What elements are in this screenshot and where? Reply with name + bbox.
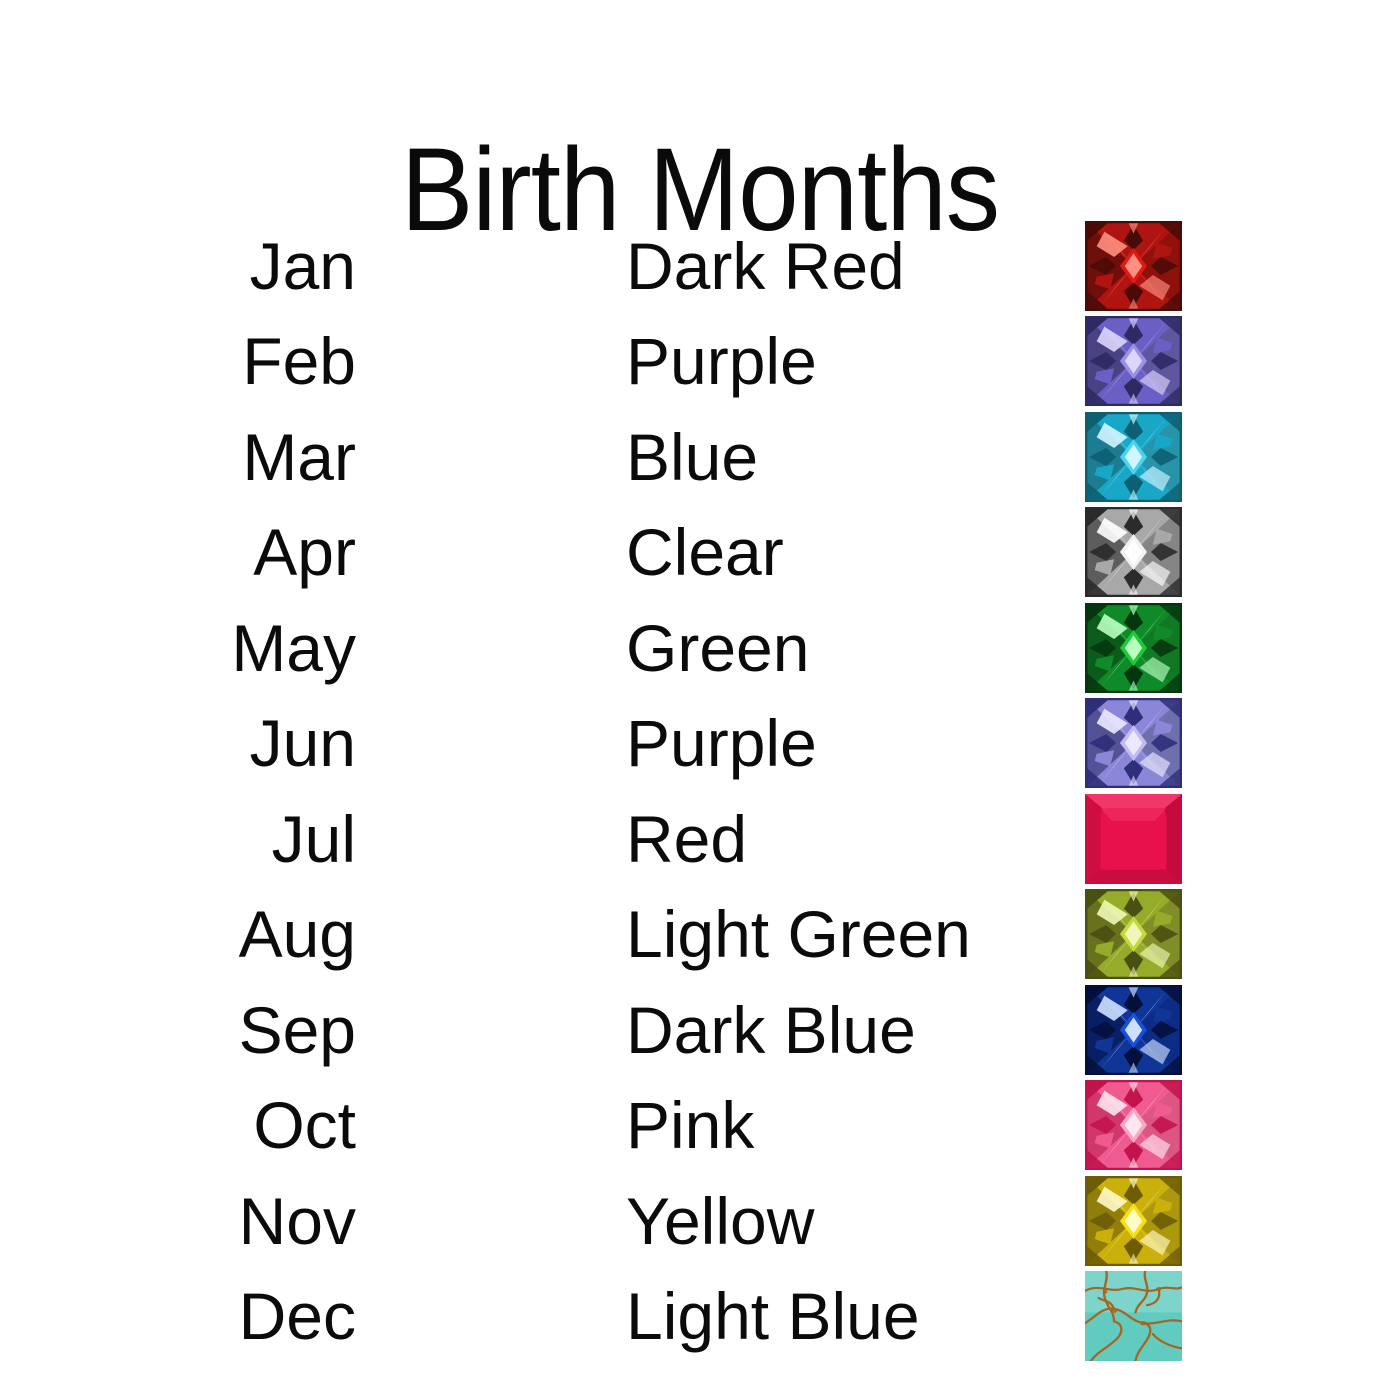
alexandrite-gem xyxy=(1085,698,1182,788)
month-label: Jan xyxy=(120,233,356,299)
alexandrite-gem-facets xyxy=(1085,698,1182,788)
table-row: DecLight Blue xyxy=(0,1269,1400,1365)
color-name-label: Blue xyxy=(626,424,1066,490)
table-row: OctPink xyxy=(0,1078,1400,1174)
month-label: Apr xyxy=(120,519,356,585)
garnet-gem xyxy=(1085,221,1182,311)
birth-months-table: JanDark Red FebPurple xyxy=(0,218,1400,1364)
citrine-gem xyxy=(1085,1176,1182,1266)
month-label: May xyxy=(120,615,356,681)
table-row: NovYellow xyxy=(0,1173,1400,1269)
month-label: Aug xyxy=(120,901,356,967)
amethyst-gem xyxy=(1085,316,1182,406)
diamond-gem-facets xyxy=(1085,507,1182,597)
emerald-gem-facets xyxy=(1085,603,1182,693)
month-label: Feb xyxy=(120,328,356,394)
sapphire-gem xyxy=(1085,985,1182,1075)
emerald-gem xyxy=(1085,603,1182,693)
garnet-gem-facets xyxy=(1085,221,1182,311)
tourmaline-gem-facets xyxy=(1085,1080,1182,1170)
table-row: JulRed xyxy=(0,791,1400,887)
table-row: AprClear xyxy=(0,505,1400,601)
color-name-label: Yellow xyxy=(626,1188,1066,1254)
color-name-label: Purple xyxy=(626,328,1066,394)
month-label: Jul xyxy=(120,806,356,872)
month-label: Jun xyxy=(120,710,356,776)
ruby-gem-facets xyxy=(1085,794,1182,884)
table-row: JanDark Red xyxy=(0,218,1400,314)
month-label: Sep xyxy=(120,997,356,1063)
table-row: MarBlue xyxy=(0,409,1400,505)
aquamarine-gem-facets xyxy=(1085,412,1182,502)
table-row: AugLight Green xyxy=(0,887,1400,983)
month-label: Mar xyxy=(120,424,356,490)
ruby-gem xyxy=(1085,794,1182,884)
table-row: MayGreen xyxy=(0,600,1400,696)
turquoise-gem-matrix xyxy=(1085,1271,1182,1361)
table-row: SepDark Blue xyxy=(0,982,1400,1078)
color-name-label: Green xyxy=(626,615,1066,681)
color-name-label: Dark Red xyxy=(626,233,1066,299)
citrine-gem-facets xyxy=(1085,1176,1182,1266)
amethyst-gem-facets xyxy=(1085,316,1182,406)
month-label: Nov xyxy=(120,1188,356,1254)
table-row: FebPurple xyxy=(0,314,1400,410)
diamond-gem xyxy=(1085,507,1182,597)
color-name-label: Purple xyxy=(626,710,1066,776)
tourmaline-gem xyxy=(1085,1080,1182,1170)
table-row: JunPurple xyxy=(0,696,1400,792)
month-label: Oct xyxy=(120,1092,356,1158)
turquoise-gem xyxy=(1085,1271,1182,1361)
color-name-label: Red xyxy=(626,806,1066,872)
peridot-gem-facets xyxy=(1085,889,1182,979)
color-name-label: Pink xyxy=(626,1092,1066,1158)
color-name-label: Light Green xyxy=(626,901,1066,967)
peridot-gem xyxy=(1085,889,1182,979)
color-name-label: Light Blue xyxy=(626,1283,1066,1349)
sapphire-gem-facets xyxy=(1085,985,1182,1075)
month-label: Dec xyxy=(120,1283,356,1349)
color-name-label: Clear xyxy=(626,519,1066,585)
aquamarine-gem xyxy=(1085,412,1182,502)
color-name-label: Dark Blue xyxy=(626,997,1066,1063)
